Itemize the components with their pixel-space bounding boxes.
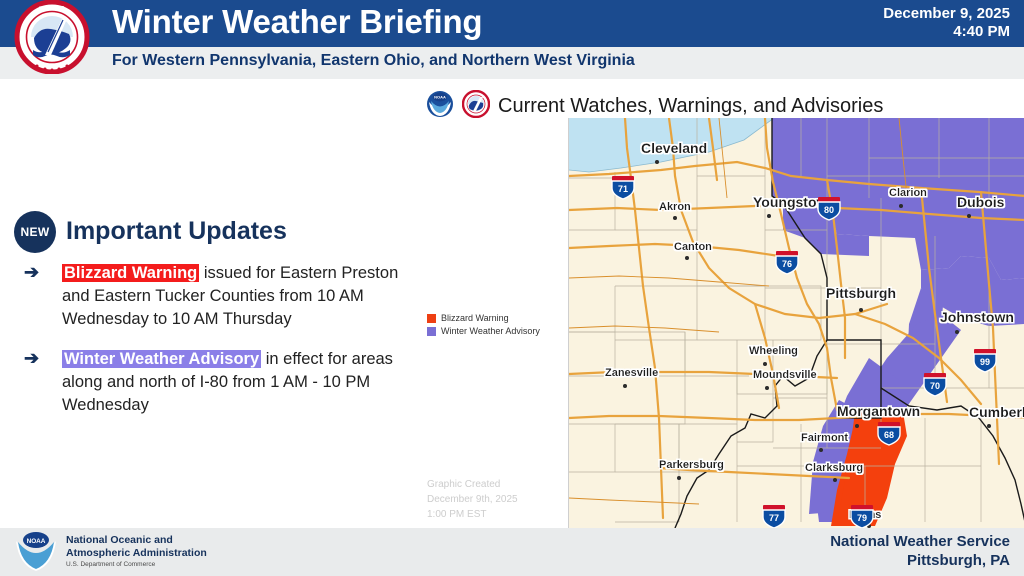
map-city-label: Cumberland <box>969 404 1024 420</box>
svg-text:WEATHER: WEATHER <box>40 6 65 12</box>
legend-swatch-blizzard <box>427 314 436 323</box>
map-city-label: Parkersburg <box>659 459 724 471</box>
map-city-label: Fairmont <box>801 432 848 444</box>
header-datetime: December 9, 2025 4:40 PM <box>883 5 1010 41</box>
interstate-number: 79 <box>857 513 867 523</box>
interstate-number: 77 <box>769 513 779 523</box>
graphic-created-line1: Graphic Created <box>427 477 518 492</box>
nws-seal-icon <box>462 90 490 123</box>
map-city-label: Cleveland <box>641 140 707 156</box>
interstate-number: 70 <box>930 381 940 391</box>
map-city-label: Moundsville <box>753 369 817 381</box>
noaa-logo-icon: NOAA <box>426 90 454 123</box>
interstate-number: 80 <box>824 205 834 215</box>
footer-noaa-line2: Atmospheric Administration <box>66 547 207 560</box>
interstate-number: 68 <box>884 430 894 440</box>
updates-heading: Important Updates <box>66 217 287 246</box>
legend-item-blizzard: Blizzard Warning <box>427 312 540 325</box>
blizzard-warning-tag: Blizzard Warning <box>62 264 199 282</box>
footer-noaa-sub: U.S. Department of Commerce <box>66 561 155 568</box>
svg-text:NOAA: NOAA <box>27 538 46 545</box>
footer-office: National Weather Service Pittsburgh, PA <box>830 532 1010 570</box>
interstate-shield-icon: 70 <box>924 373 946 396</box>
interstate-shield-icon: 76 <box>776 251 798 274</box>
map-city-label: Clarion <box>889 187 927 199</box>
map-title: Current Watches, Warnings, and Advisorie… <box>498 95 883 118</box>
new-badge-label: NEW <box>21 225 50 239</box>
noaa-logo-icon: NOAA <box>14 531 58 573</box>
legend-label-advisory: Winter Weather Advisory <box>441 325 540 338</box>
map-city-label: Zanesville <box>605 367 658 379</box>
graphic-created-line3: 1:00 PM EST <box>427 507 518 522</box>
map-city-label: Pittsburgh <box>826 285 896 301</box>
map-city-label: Wheeling <box>749 345 798 357</box>
interstate-number: 76 <box>782 259 792 269</box>
footer-noaa-name: National Oceanic and Atmospheric Adminis… <box>66 534 207 559</box>
briefing-slide: WEATHER Winter Weather Briefing December… <box>0 0 1024 576</box>
footer-office-line2: Pittsburgh, PA <box>830 551 1010 570</box>
legend-item-advisory: Winter Weather Advisory <box>427 325 540 338</box>
watches-warnings-map[interactable]: ClevelandAkronCantonYoungstownClarionDub… <box>568 118 1024 528</box>
legend-swatch-advisory <box>427 327 436 336</box>
map-legend: Blizzard Warning Winter Weather Advisory <box>427 312 540 338</box>
map-city-label: Akron <box>659 201 691 213</box>
arrow-right-icon: ➔ <box>24 262 39 283</box>
legend-label-blizzard: Blizzard Warning <box>441 312 509 325</box>
page-title: Winter Weather Briefing <box>112 3 482 41</box>
nws-seal-icon: WEATHER <box>4 0 100 74</box>
header-date: December 9, 2025 <box>883 5 1010 23</box>
map-city-label: Morgantown <box>837 403 920 419</box>
map-city-label: Johnstown <box>940 309 1014 325</box>
arrow-right-icon: ➔ <box>24 348 39 369</box>
header-time: 4:40 PM <box>883 23 1010 41</box>
map-city-label: Dubois <box>957 194 1005 210</box>
new-badge: NEW <box>14 211 56 253</box>
interstate-shield-icon: 79 <box>851 505 873 528</box>
footer-noaa-line1: National Oceanic and <box>66 534 207 547</box>
graphic-created-note: Graphic Created December 9th, 2025 1:00 … <box>427 477 518 522</box>
interstate-number: 71 <box>618 184 628 194</box>
interstate-shield-icon: 68 <box>878 422 900 445</box>
interstate-shield-icon: 77 <box>763 505 785 528</box>
footer-office-line1: National Weather Service <box>830 532 1010 551</box>
header-subtitle: For Western Pennsylvania, Eastern Ohio, … <box>112 52 635 70</box>
graphic-created-line2: December 9th, 2025 <box>427 492 518 507</box>
interstate-shield-icon: 71 <box>612 176 634 199</box>
svg-text:NOAA: NOAA <box>434 95 446 100</box>
interstate-number: 99 <box>980 357 990 367</box>
interstate-shield-icon: 99 <box>974 349 996 372</box>
interstate-shield-icon: 80 <box>818 197 840 220</box>
winter-weather-advisory-tag: Winter Weather Advisory <box>62 350 261 368</box>
map-city-label: Canton <box>674 241 712 253</box>
map-city-label: Clarksburg <box>805 462 863 474</box>
